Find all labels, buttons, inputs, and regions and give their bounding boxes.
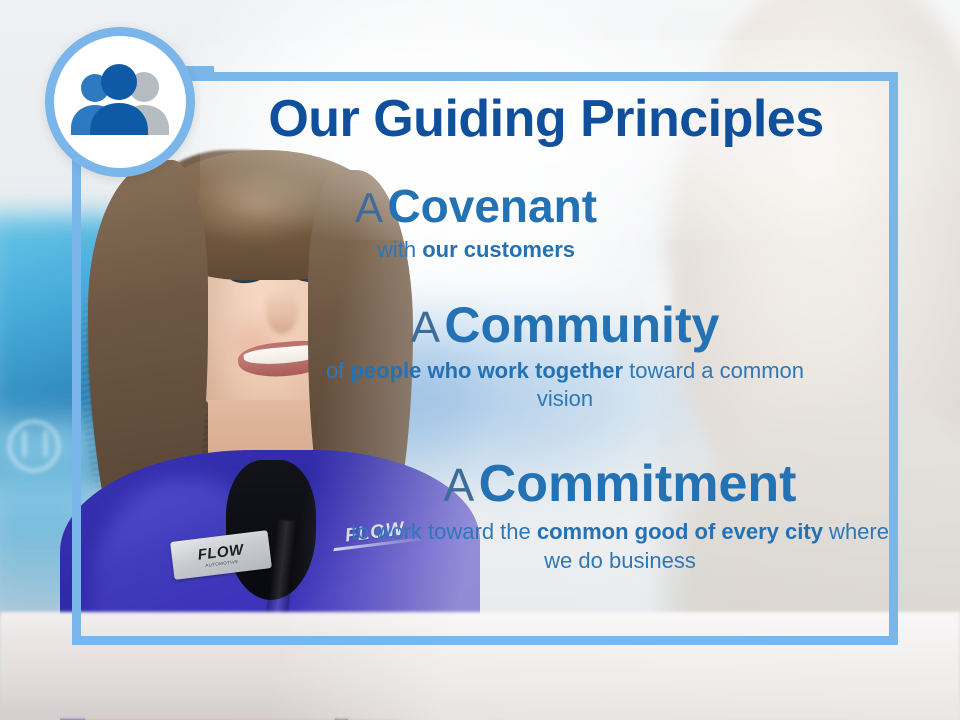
people-badge — [45, 27, 195, 177]
guiding-principles-banner: FLOW AUTOMOTIVE FLOW — [0, 0, 960, 720]
white-desk — [0, 612, 960, 720]
principle-word: Covenant — [387, 180, 597, 232]
employee-nose — [266, 288, 298, 334]
principle-heading: A Community — [300, 300, 830, 351]
principle-article: A — [355, 184, 383, 231]
principle-subtext: of people who work together toward a com… — [300, 357, 830, 413]
principle-word: Community — [444, 297, 719, 353]
principle-subtext: with our customers — [236, 236, 716, 264]
principle-covenant: A Covenant with our customers — [236, 183, 716, 264]
principle-community: A Community of people who work together … — [300, 300, 830, 413]
principle-article: A — [411, 303, 440, 352]
page-title: Our Guiding Principles — [216, 93, 876, 145]
principle-word: Commitment — [479, 455, 797, 513]
principle-article: A — [444, 459, 475, 511]
principle-commitment: A Commitment to work toward the common g… — [350, 458, 890, 575]
principle-heading: A Commitment — [350, 458, 890, 511]
principle-subtext: to work toward the common good of every … — [350, 517, 890, 575]
principle-heading: A Covenant — [236, 183, 716, 230]
people-group-icon — [68, 63, 172, 141]
